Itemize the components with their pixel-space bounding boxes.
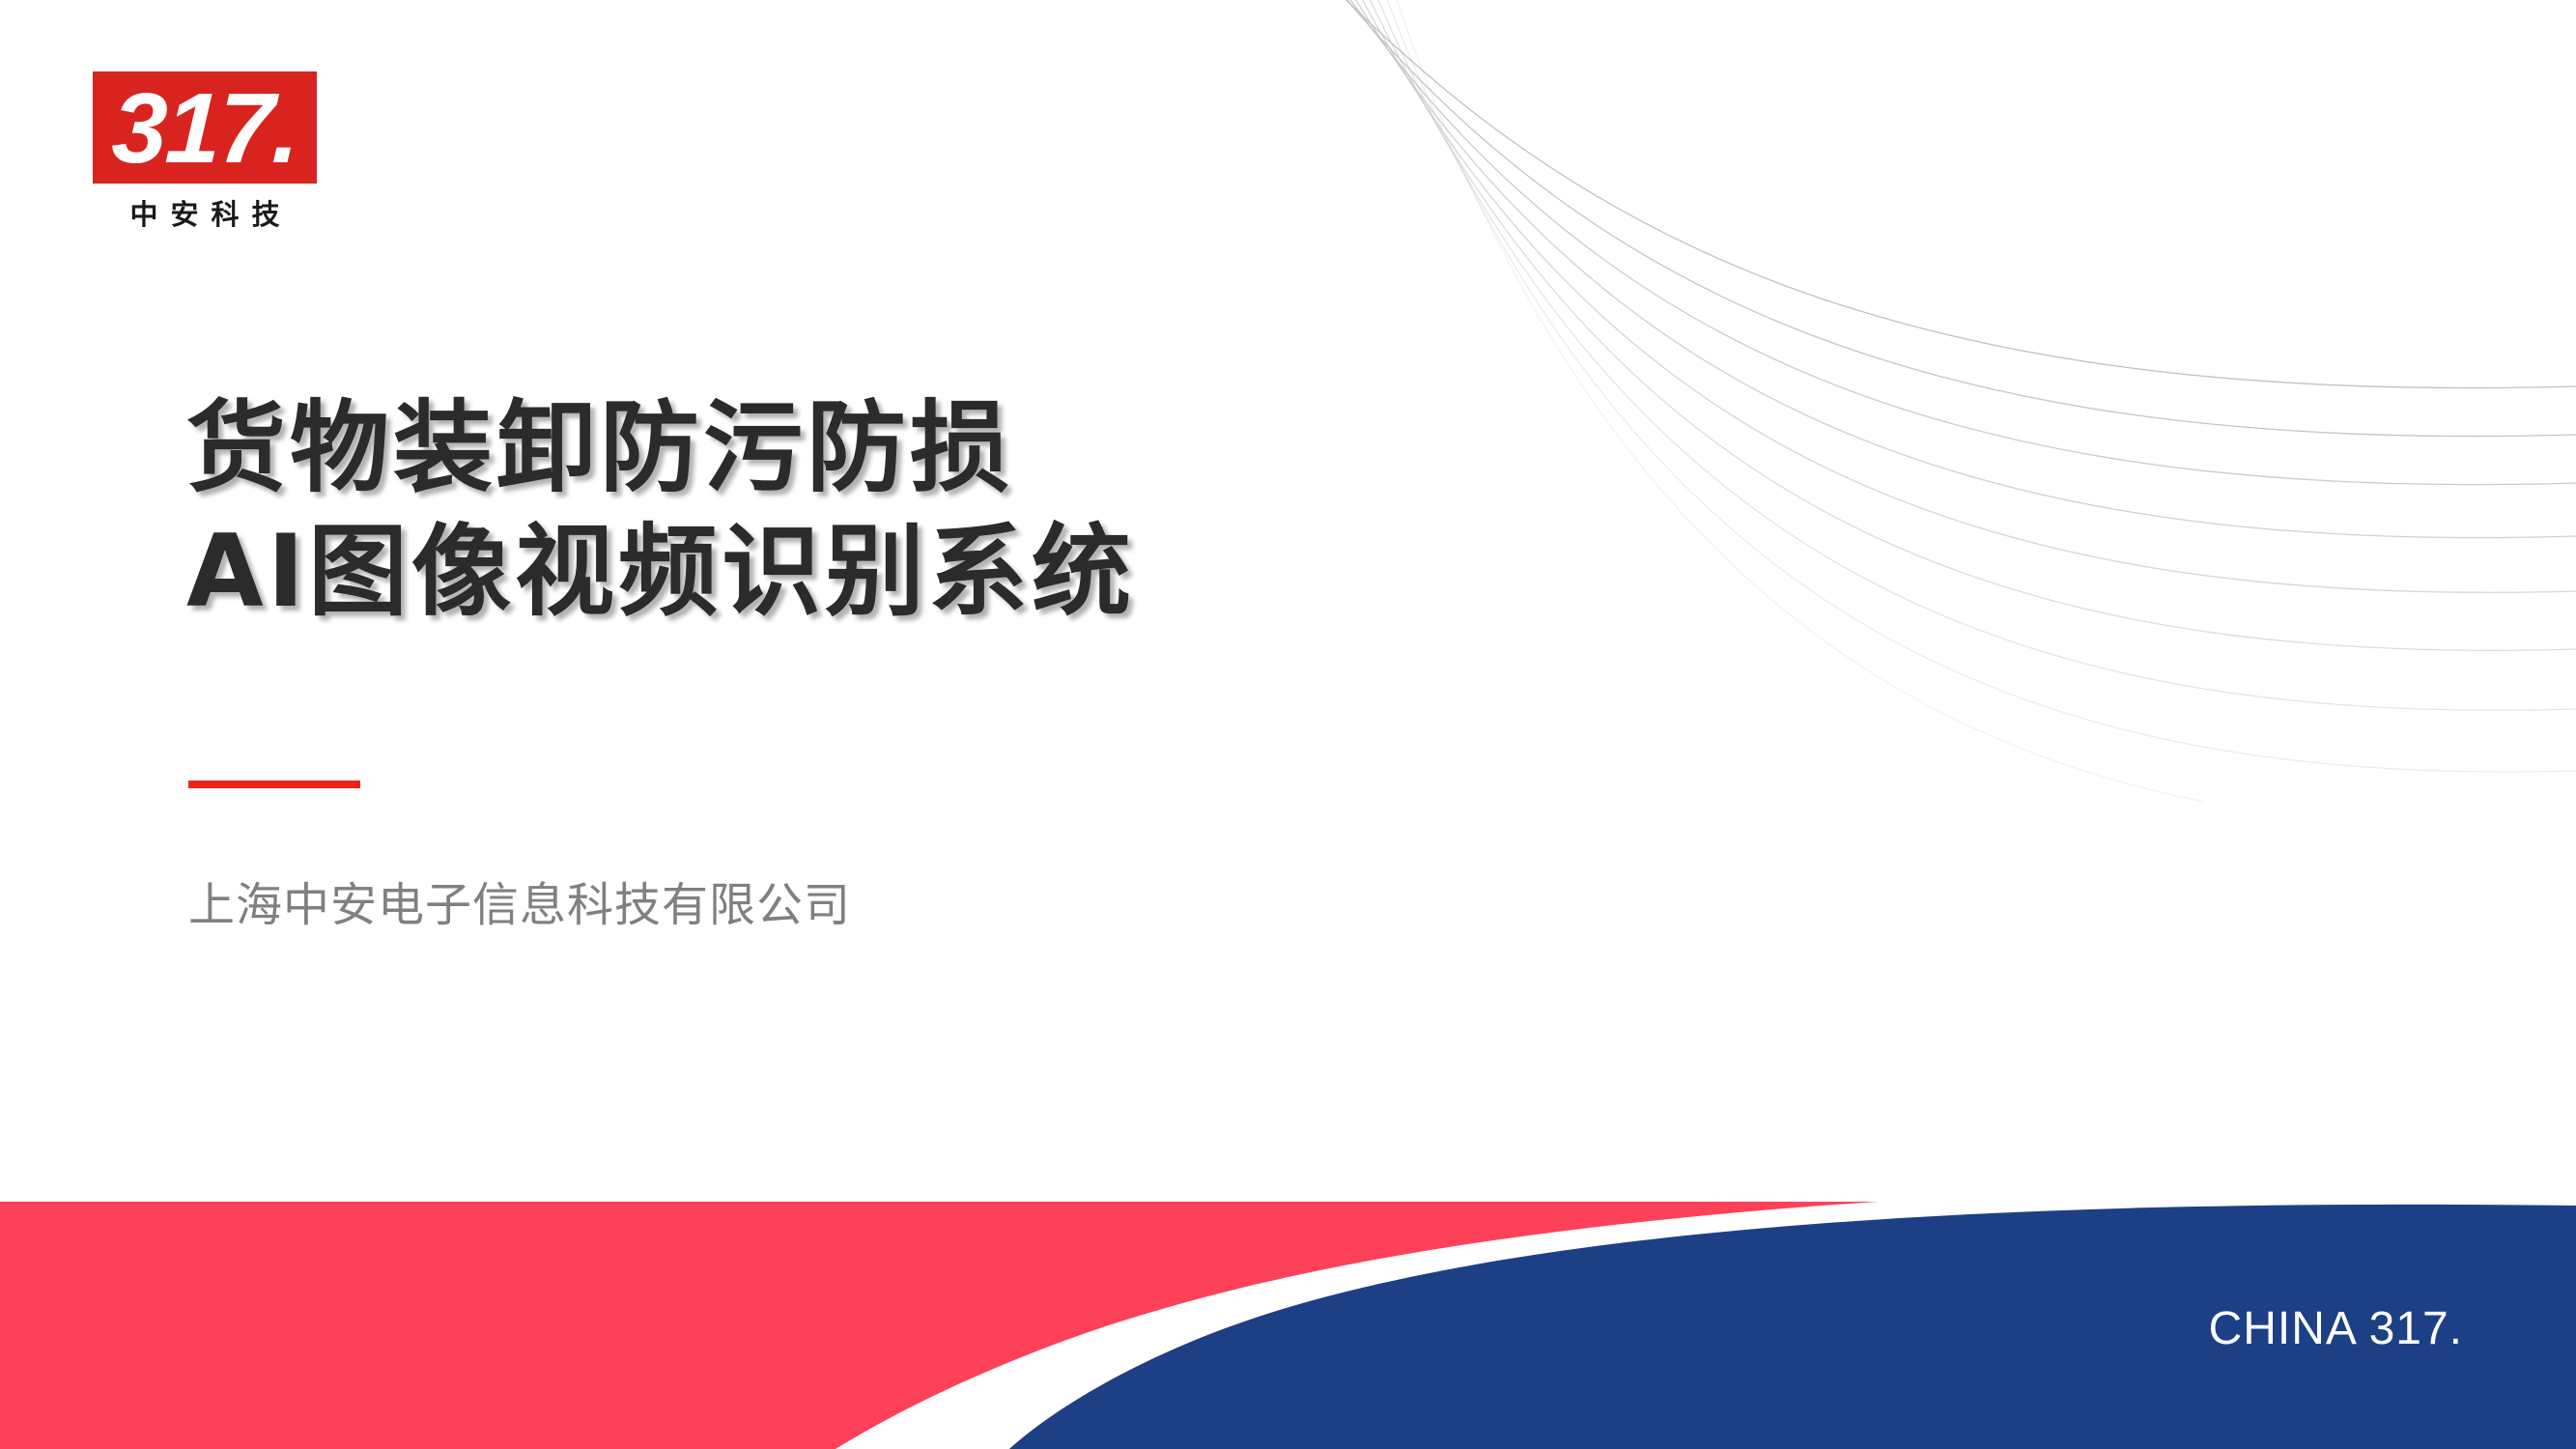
brand-logo: 317. 中安科技 (93, 71, 325, 230)
logo-mark: 317. (93, 71, 317, 184)
title-divider-rule (188, 781, 360, 788)
footer-band: CHINA 317. (0, 1202, 2576, 1449)
page-title: 货物装卸防污防损 AI图像视频识别系统 (186, 386, 1539, 634)
title-slide: 317. 中安科技 货物装卸防污防损 AI图像视频识别系统 上海中安电子信息科技… (0, 0, 2576, 1449)
page-title-line-2: AI图像视频识别系统 (186, 510, 1539, 634)
page-title-line-1: 货物装卸防污防损 (186, 386, 1539, 510)
footer-brand-text: CHINA 317. (2209, 1306, 2463, 1352)
company-name: 上海中安电子信息科技有限公司 (188, 877, 851, 933)
logo-subtitle: 中安科技 (93, 199, 317, 230)
logo-mark-text: 317. (110, 78, 299, 178)
